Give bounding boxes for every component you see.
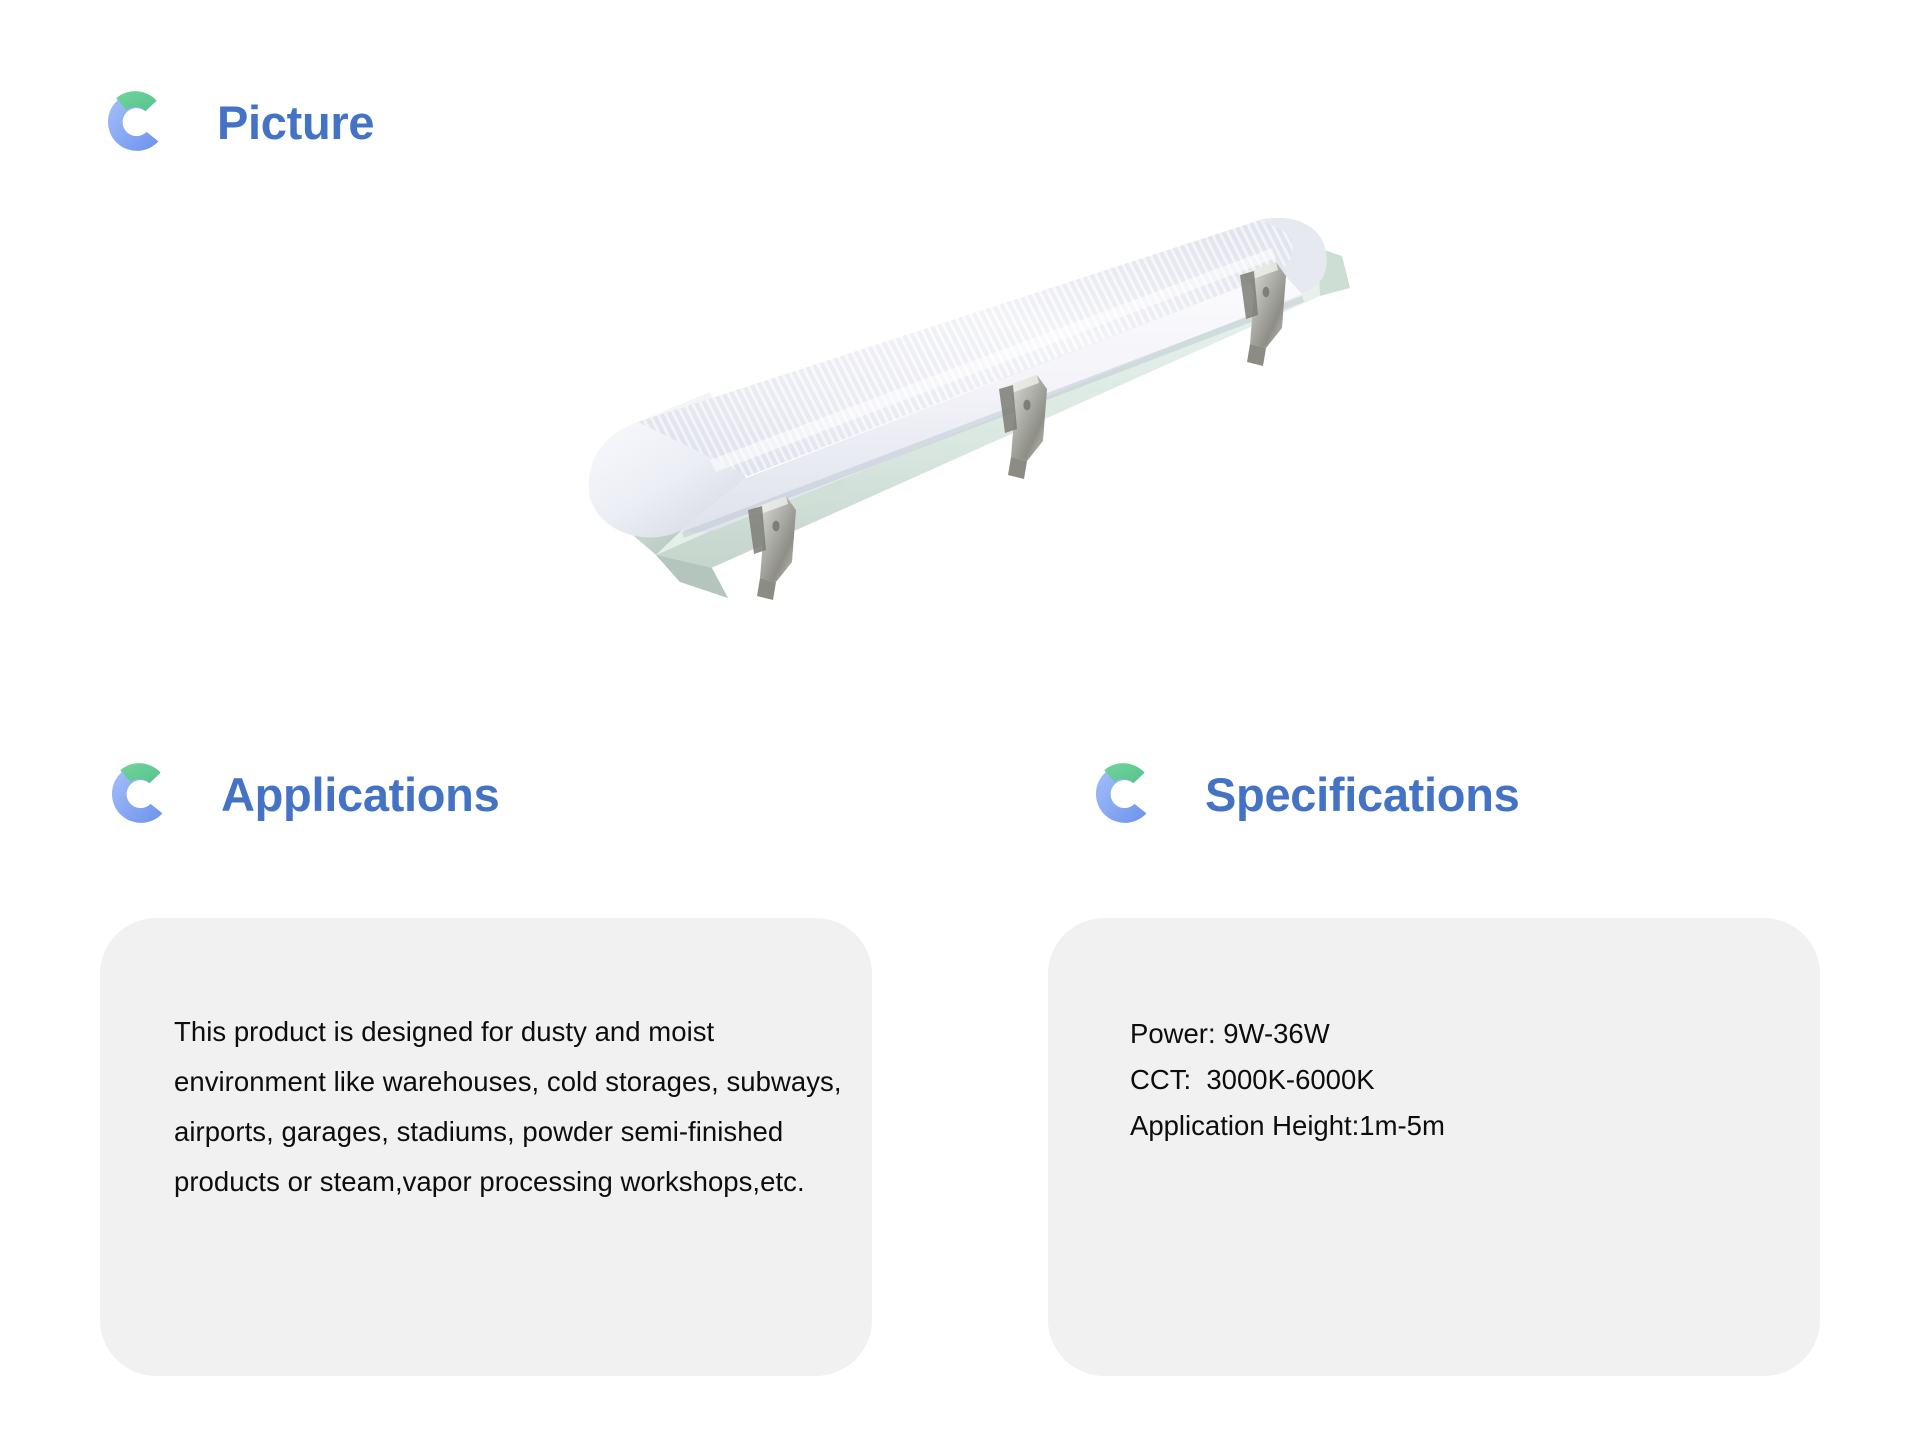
- section-heading-applications: Applications: [104, 758, 499, 830]
- spec-item-cct: CCT: 3000K-6000K: [1130, 1057, 1445, 1103]
- section-heading-specifications: Specifications: [1088, 758, 1519, 830]
- page-title: Picture: [217, 95, 374, 150]
- product-spec-page: Picture: [0, 0, 1920, 1440]
- section-heading-picture: Picture: [100, 86, 374, 158]
- specifications-card: Power: 9W-36W CCT: 3000K-6000K Applicati…: [1048, 918, 1820, 1376]
- product-image-led-tri-proof-batten: [560, 210, 1400, 710]
- section-title-applications: Applications: [221, 767, 499, 822]
- specifications-list: Power: 9W-36W CCT: 3000K-6000K Applicati…: [1130, 1011, 1445, 1149]
- section-title-specifications: Specifications: [1205, 767, 1519, 822]
- brand-c-ring-icon: [100, 86, 172, 158]
- applications-card: This product is designed for dusty and m…: [100, 918, 872, 1376]
- spec-item-height: Application Height:1m-5m: [1130, 1103, 1445, 1149]
- spec-item-power: Power: 9W-36W: [1130, 1011, 1445, 1057]
- brand-c-ring-icon: [1088, 758, 1160, 830]
- applications-description: This product is designed for dusty and m…: [174, 1007, 846, 1207]
- brand-c-ring-icon: [104, 758, 176, 830]
